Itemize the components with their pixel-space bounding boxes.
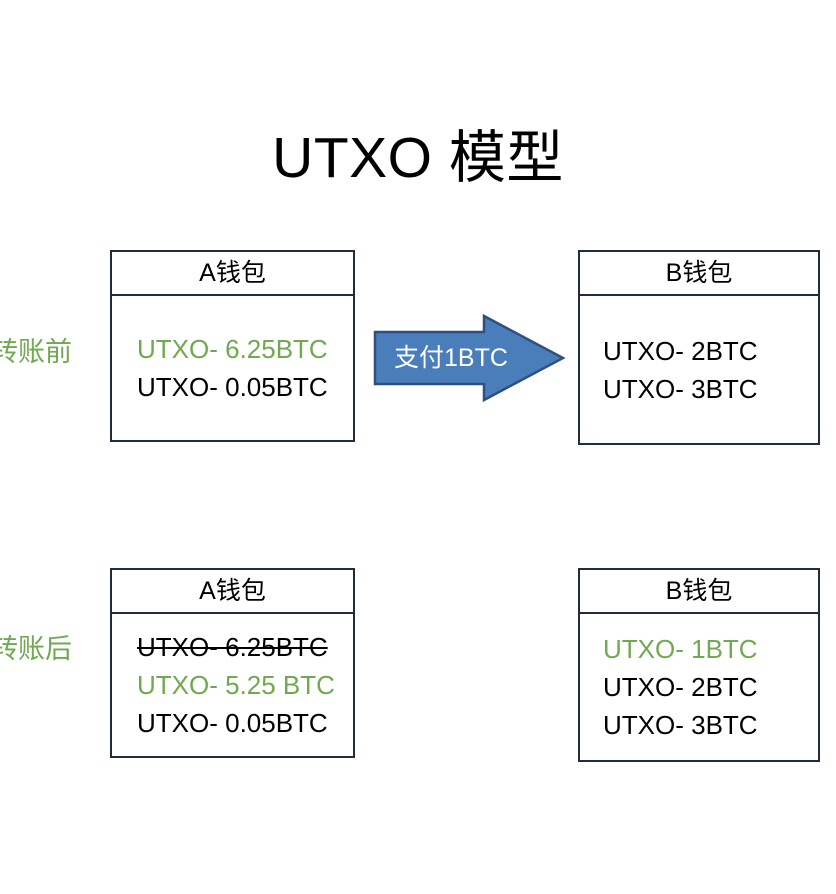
page-title: UTXO 模型: [0, 122, 836, 194]
wallet-header-a-before: A钱包: [112, 252, 353, 296]
utxo-entry: UTXO- 0.05BTC: [137, 368, 328, 406]
wallet-box-b-after: B钱包 UTXO- 1BTC UTXO- 2BTC UTXO- 3BTC: [578, 568, 820, 762]
wallet-body-a-before: UTXO- 6.25BTC UTXO- 0.05BTC: [112, 296, 353, 440]
row-label-before-transfer: 转账前: [0, 335, 72, 369]
row-label-after-transfer: 转账后: [0, 632, 72, 666]
utxo-entry-spent: UTXO- 6.25BTC: [137, 628, 328, 666]
arrow-right-icon: [372, 312, 566, 404]
wallet-box-b-before: B钱包 UTXO- 2BTC UTXO- 3BTC: [578, 250, 820, 445]
utxo-entry: UTXO- 2BTC: [603, 332, 758, 370]
wallet-body-b-after: UTXO- 1BTC UTXO- 2BTC UTXO- 3BTC: [580, 614, 818, 760]
utxo-entry: UTXO- 0.05BTC: [137, 704, 328, 742]
wallet-box-a-after: A钱包 UTXO- 6.25BTC UTXO- 5.25 BTC UTXO- 0…: [110, 568, 355, 758]
wallet-header-b-after: B钱包: [580, 570, 818, 614]
utxo-entry: UTXO- 6.25BTC: [137, 330, 328, 368]
wallet-body-b-before: UTXO- 2BTC UTXO- 3BTC: [580, 296, 818, 443]
diagram-canvas: UTXO 模型 转账前 A钱包 UTXO- 6.25BTC UTXO- 0.05…: [0, 0, 836, 894]
wallet-box-a-before: A钱包 UTXO- 6.25BTC UTXO- 0.05BTC: [110, 250, 355, 442]
payment-arrow: 支付1BTC: [372, 312, 566, 404]
wallet-body-a-after: UTXO- 6.25BTC UTXO- 5.25 BTC UTXO- 0.05B…: [112, 614, 353, 756]
wallet-header-a-after: A钱包: [112, 570, 353, 614]
utxo-entry: UTXO- 3BTC: [603, 370, 758, 408]
utxo-entry: UTXO- 1BTC: [603, 630, 758, 668]
wallet-header-b-before: B钱包: [580, 252, 818, 296]
utxo-entry: UTXO- 5.25 BTC: [137, 666, 335, 704]
utxo-entry: UTXO- 3BTC: [603, 706, 758, 744]
utxo-entry: UTXO- 2BTC: [603, 668, 758, 706]
